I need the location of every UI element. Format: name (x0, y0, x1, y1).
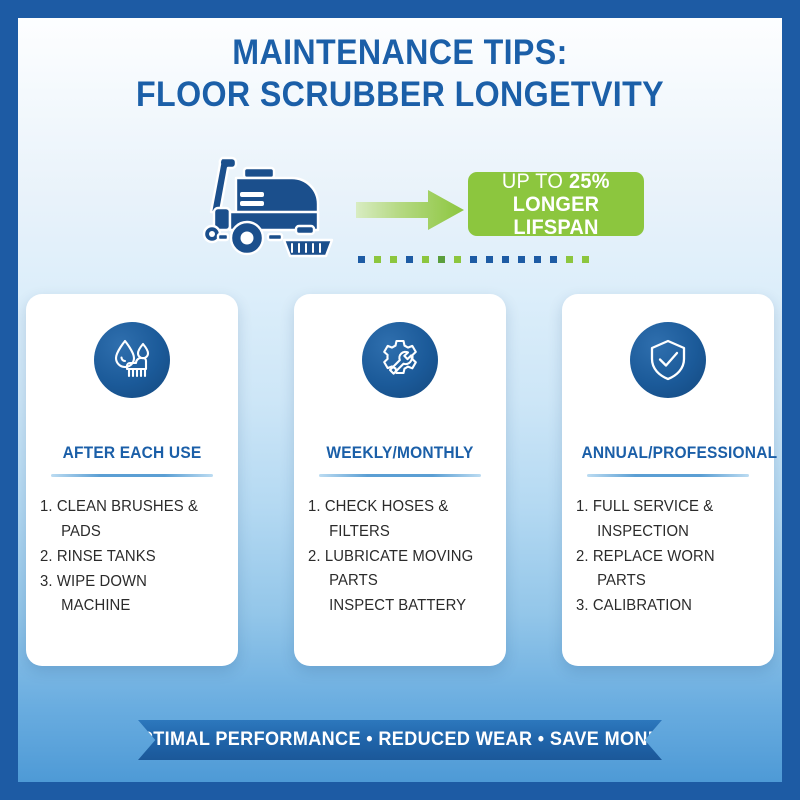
benefits-ribbon-text: OPTIMAL PERFORMANCE • REDUCED WEAR • SAV… (127, 729, 673, 751)
page-title: MAINTENANCE TIPS: FLOOR SCRUBBER LONGETV… (18, 32, 782, 116)
connector-dot (406, 256, 413, 263)
shield-check-icon (630, 322, 706, 398)
connector-dot (470, 256, 477, 263)
card-heading: ANNUAL/PROFESSIONAL (582, 444, 755, 463)
connector-dot (454, 256, 461, 263)
card-task-list: 1. CLEAN BRUSHES &PADS2. RINSE TANKS3. W… (40, 495, 224, 618)
list-item: FILTERS (308, 520, 485, 544)
tips-card-row: AFTER EACH USE1. CLEAN BRUSHES &PADS2. R… (26, 294, 774, 666)
badge-line-2: LONGER LIFSPAN (472, 193, 639, 239)
tips-card: AFTER EACH USE1. CLEAN BRUSHES &PADS2. R… (26, 294, 238, 666)
title-line-2: FLOOR SCRUBBER LONGETVITY (49, 74, 752, 116)
dotted-connector (358, 256, 589, 263)
hero-section: UP TO 25% LONGER LIFSPAN (18, 150, 782, 280)
card-divider (587, 474, 749, 477)
list-item: 1. CLEAN BRUSHES & (40, 495, 217, 519)
water-drop-brush-icon (94, 322, 170, 398)
list-item: 3. WIPE DOWN MACHINE (40, 570, 217, 618)
tips-card: WEEKLY/MONTHLY1. CHECK HOSES &FILTERS2. … (294, 294, 506, 666)
card-heading: AFTER EACH USE (46, 444, 219, 463)
connector-dot (390, 256, 397, 263)
right-arrow-icon (356, 186, 464, 239)
connector-dot (534, 256, 541, 263)
title-line-1: MAINTENANCE TIPS: (49, 32, 752, 74)
connector-dot (374, 256, 381, 263)
list-item: 1. CHECK HOSES & (308, 495, 485, 519)
list-item: INSPECTION (576, 520, 753, 544)
connector-dot (422, 256, 429, 263)
poster-canvas: MAINTENANCE TIPS: FLOOR SCRUBBER LONGETV… (18, 18, 782, 782)
list-item: 1. FULL SERVICE & (576, 495, 753, 519)
connector-dot (502, 256, 509, 263)
connector-dot (566, 256, 573, 263)
card-task-list: 1. FULL SERVICE &INSPECTION2. REPLACE WO… (576, 495, 760, 618)
card-divider (51, 474, 213, 477)
connector-dot (582, 256, 589, 263)
connector-dot (438, 256, 445, 263)
list-item: PADS (40, 520, 217, 544)
connector-dot (550, 256, 557, 263)
gear-wrench-icon (362, 322, 438, 398)
badge-highlight: 25% (569, 170, 610, 193)
list-item: INSPECT BATTERY (308, 594, 485, 618)
lifespan-badge: UP TO 25% LONGER LIFSPAN (468, 172, 644, 236)
tips-card: ANNUAL/PROFESSIONAL1. FULL SERVICE &INSP… (562, 294, 774, 666)
list-item: 2. LUBRICATE MOVING PARTS (308, 545, 485, 593)
benefits-ribbon: OPTIMAL PERFORMANCE • REDUCED WEAR • SAV… (138, 720, 662, 760)
list-item: 2. RINSE TANKS (40, 545, 217, 569)
floor-scrubber-icon (200, 152, 350, 269)
card-divider (319, 474, 481, 477)
connector-dot (486, 256, 493, 263)
list-item: 2. REPLACE WORN PARTS (576, 545, 753, 593)
connector-dot (358, 256, 365, 263)
badge-line-1: UP TO 25% (502, 170, 610, 193)
card-task-list: 1. CHECK HOSES &FILTERS2. LUBRICATE MOVI… (308, 495, 492, 618)
list-item: 3. CALIBRATION (576, 594, 753, 618)
infographic-poster: MAINTENANCE TIPS: FLOOR SCRUBBER LONGETV… (0, 0, 800, 800)
card-heading: WEEKLY/MONTHLY (314, 444, 487, 463)
badge-prefix: UP TO (502, 170, 569, 193)
connector-dot (518, 256, 525, 263)
